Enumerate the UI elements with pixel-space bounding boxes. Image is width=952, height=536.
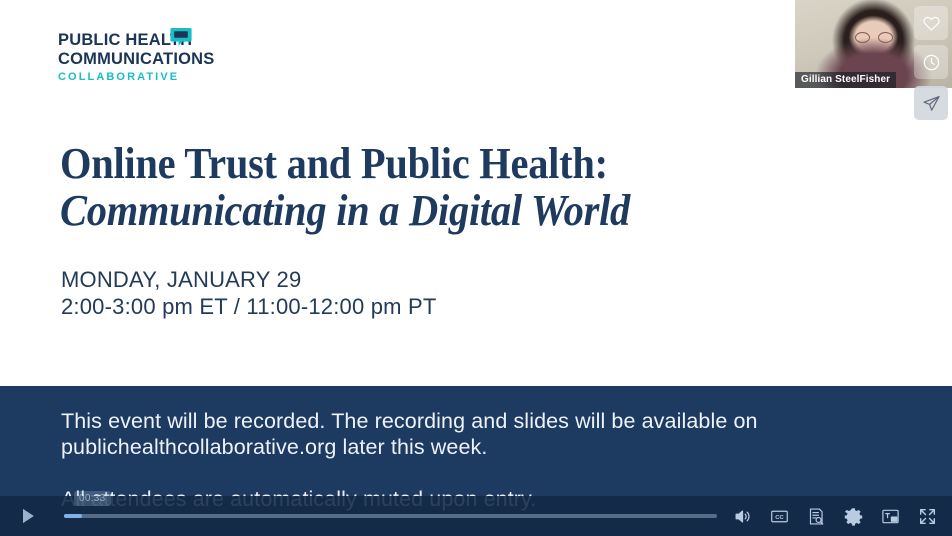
logo-line-2: COMMUNICATIONS (58, 50, 258, 68)
clock-icon (922, 53, 941, 72)
watch-later-button[interactable] (914, 45, 948, 79)
play-icon (18, 506, 38, 526)
phcc-logo: PUBLIC HEALTH COMMUNICATIONS COLLABORATI… (58, 31, 258, 83)
slide-title-line-1: Online Trust and Public Health: (60, 140, 824, 187)
paper-plane-icon (922, 94, 941, 113)
event-date: MONDAY, JANUARY 29 (61, 266, 437, 293)
slide-title-line-2: Communicating in a Digital World (60, 187, 824, 234)
svg-text:CC: CC (775, 515, 784, 521)
event-time: 2:00-3:00 pm ET / 11:00-12:00 pm PT (61, 293, 437, 320)
fullscreen-icon[interactable] (916, 505, 938, 527)
slide-event-meta: MONDAY, JANUARY 29 2:00-3:00 pm ET / 11:… (61, 266, 437, 320)
speaker-name-label: Gillian SteelFisher (795, 72, 896, 88)
heart-icon (922, 14, 941, 33)
player-control-bar: 00:33 CC (0, 496, 952, 536)
progress-scrubber[interactable]: 00:33 (56, 496, 731, 536)
slide-title: Online Trust and Public Health: Communic… (60, 140, 890, 234)
settings-gear-icon[interactable] (842, 505, 864, 527)
control-icon-group: CC (731, 505, 952, 527)
transcript-search-icon[interactable] (805, 505, 827, 527)
volume-icon[interactable] (731, 505, 753, 527)
logo-line-1: PUBLIC HEALTH (58, 31, 192, 49)
speech-bubble-icon (170, 27, 192, 47)
video-player-stage: PUBLIC HEALTH COMMUNICATIONS COLLABORATI… (0, 0, 952, 536)
favorite-button[interactable] (914, 6, 948, 40)
play-button[interactable] (0, 496, 56, 536)
picture-in-picture-icon[interactable] (879, 505, 901, 527)
banner-paragraph-1: This event will be recorded. The recordi… (61, 408, 891, 460)
share-button[interactable] (914, 86, 948, 120)
closed-captions-icon[interactable]: CC (768, 505, 790, 527)
time-tooltip: 00:33 (74, 491, 111, 506)
speaker-glasses (855, 32, 893, 43)
logo-line-3: COLLABORATIVE (58, 71, 258, 83)
progress-track[interactable] (64, 514, 717, 518)
